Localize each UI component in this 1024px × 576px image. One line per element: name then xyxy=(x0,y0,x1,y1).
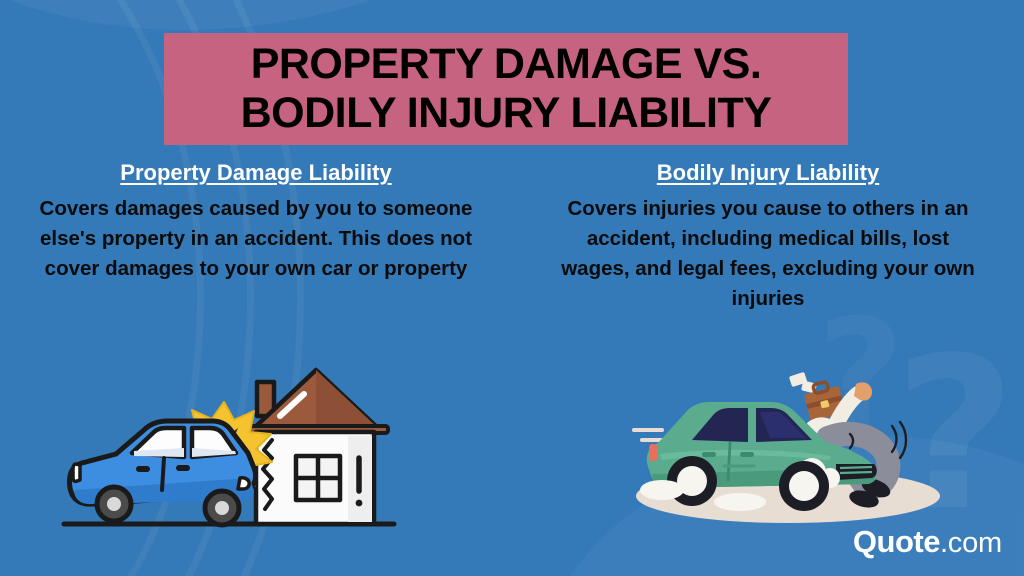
logo-tld: .com xyxy=(940,527,1002,560)
top-left-swoop-shape xyxy=(0,0,560,30)
column-property-damage: Property Damage Liability Covers damages… xyxy=(0,158,512,314)
title-line-1: PROPERTY DAMAGE VS. xyxy=(251,40,762,89)
blue-car-shape xyxy=(70,421,256,525)
quote-com-logo[interactable]: Quote .com xyxy=(853,524,1002,560)
car-crashing-into-house-illustration xyxy=(58,358,440,542)
infographic-canvas: ? ? PROPERTY DAMAGE VS. BODILY INJURY LI… xyxy=(0,0,1024,576)
title-line-2: BODILY INJURY LIABILITY xyxy=(241,89,772,138)
car-hitting-pedestrian-illustration xyxy=(620,368,960,532)
property-damage-body: Covers damages caused by you to someone … xyxy=(38,194,474,284)
house-shape xyxy=(244,370,388,524)
column-bodily-injury: Bodily Injury Liability Covers injuries … xyxy=(512,158,1024,314)
content-columns: Property Damage Liability Covers damages… xyxy=(0,158,1024,314)
property-damage-heading: Property Damage Liability xyxy=(38,158,474,188)
logo-wordmark: Quote xyxy=(853,524,940,560)
title-banner: PROPERTY DAMAGE VS. BODILY INJURY LIABIL… xyxy=(164,33,848,145)
bodily-injury-body: Covers injuries you cause to others in a… xyxy=(550,194,986,314)
bodily-injury-heading: Bodily Injury Liability xyxy=(550,158,986,188)
